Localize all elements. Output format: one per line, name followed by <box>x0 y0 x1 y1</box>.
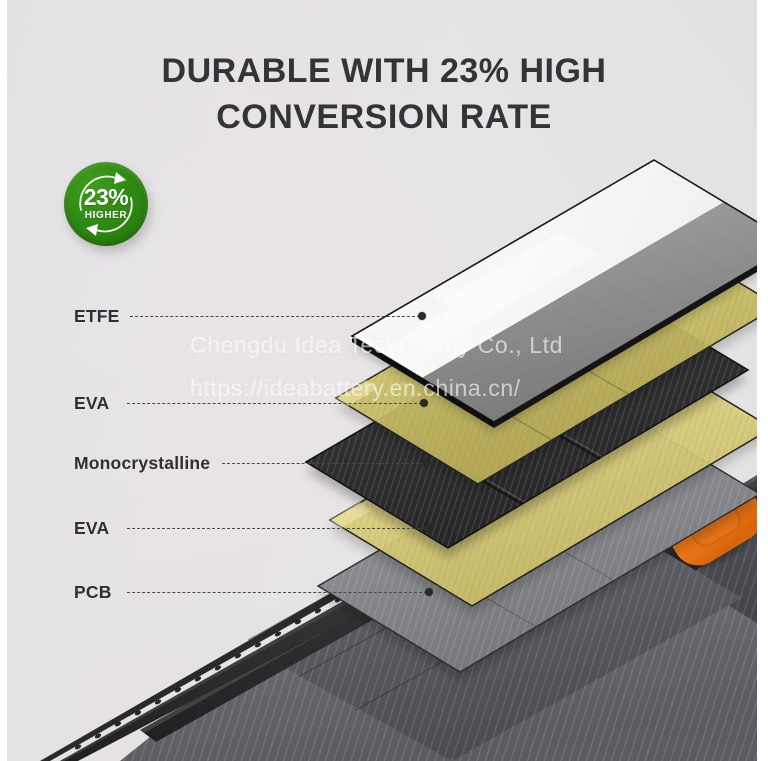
badge-caption: HIGHER <box>85 210 128 222</box>
badge-text: 23% HIGHER <box>64 162 148 246</box>
callout-label-4: PCB <box>74 582 112 603</box>
callout-leader-line-2 <box>222 463 424 464</box>
callout-endpoint-dot-0 <box>418 312 426 320</box>
callout-label-3: EVA <box>74 518 109 539</box>
callout-label-1: EVA <box>74 393 109 414</box>
efficiency-badge: 23% HIGHER <box>64 162 148 246</box>
page-title-line2: CONVERSION RATE <box>0 94 768 140</box>
callout-endpoint-dot-2 <box>422 459 430 467</box>
callout-label-2: Monocrystalline <box>74 453 210 474</box>
callout-leader-line-0 <box>130 316 420 317</box>
callout-leader-line-4 <box>127 592 427 593</box>
callout-endpoint-dot-1 <box>420 399 428 407</box>
callout-leader-line-3 <box>127 528 425 529</box>
page-title-line1: DURABLE WITH 23% HIGH <box>0 48 768 94</box>
badge-percent: 23% <box>84 186 129 209</box>
callout-label-0: ETFE <box>74 306 120 327</box>
callout-endpoint-dot-4 <box>425 588 433 596</box>
callout-endpoint-dot-3 <box>423 524 431 532</box>
infographic-canvas: DURABLE WITH 23% HIGH CONVERSION RATE 23… <box>0 0 768 761</box>
callout-leader-line-1 <box>127 403 422 404</box>
